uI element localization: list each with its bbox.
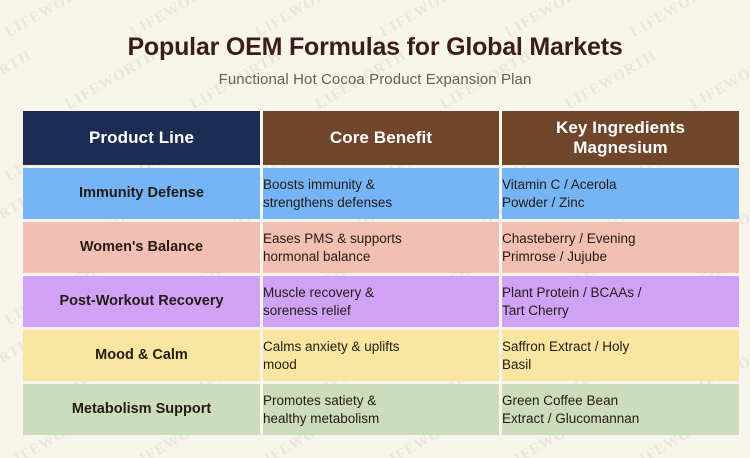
cell-product-line: Mood & Calm: [23, 330, 260, 381]
cell-product-line: Women's Balance: [23, 222, 260, 273]
column-header-key-ingredients-line2: Magnesium: [502, 138, 739, 158]
cell-core-benefit-line2: healthy metabolism: [263, 410, 499, 428]
table-row: Mood & Calm Calms anxiety & uplifts mood…: [23, 330, 739, 381]
page-title: Popular OEM Formulas for Global Markets: [0, 34, 750, 62]
cell-core-benefit-line2: mood: [263, 356, 499, 374]
cell-core-benefit: Eases PMS & supports hormonal balance: [263, 222, 499, 273]
cell-core-benefit: Calms anxiety & uplifts mood: [263, 330, 499, 381]
column-header-key-ingredients-line1: Key Ingredients: [502, 118, 739, 138]
table-header: Product Line Core Benefit Key Ingredient…: [23, 111, 739, 165]
table-row: Metabolism Support Promotes satiety & he…: [23, 384, 739, 435]
cell-key-ingredients: Plant Protein / BCAAs / Tart Cherry: [502, 276, 739, 327]
cell-key-ingredients: Saffron Extract / Holy Basil: [502, 330, 739, 381]
cell-key-ingredients-line2: Basil: [502, 356, 739, 374]
cell-key-ingredients-line2: Tart Cherry: [502, 302, 739, 320]
cell-key-ingredients-line1: Green Coffee Bean: [502, 392, 739, 410]
cell-key-ingredients-line1: Vitamin C / Acerola: [502, 176, 739, 194]
cell-product-line: Post-Workout Recovery: [23, 276, 260, 327]
cell-core-benefit: Promotes satiety & healthy metabolism: [263, 384, 499, 435]
cell-core-benefit-line2: hormonal balance: [263, 248, 499, 266]
cell-key-ingredients-line1: Plant Protein / BCAAs /: [502, 284, 739, 302]
infographic-page: Popular OEM Formulas for Global Markets …: [0, 0, 750, 458]
cell-key-ingredients-line1: Saffron Extract / Holy: [502, 338, 739, 356]
cell-core-benefit-line1: Promotes satiety &: [263, 392, 499, 410]
table-row: Post-Workout Recovery Muscle recovery & …: [23, 276, 739, 327]
column-header-core-benefit: Core Benefit: [263, 111, 499, 165]
cell-core-benefit-line1: Eases PMS & supports: [263, 230, 499, 248]
table-body: Immunity Defense Boosts immunity & stren…: [23, 168, 739, 435]
cell-core-benefit-line1: Muscle recovery &: [263, 284, 499, 302]
cell-key-ingredients: Green Coffee Bean Extract / Glucomannan: [502, 384, 739, 435]
cell-core-benefit-line1: Boosts immunity &: [263, 176, 499, 194]
cell-key-ingredients-line2: Primrose / Jujube: [502, 248, 739, 266]
table-header-row: Product Line Core Benefit Key Ingredient…: [23, 111, 739, 165]
cell-key-ingredients-line2: Powder / Zinc: [502, 194, 739, 212]
cell-key-ingredients: Chasteberry / Evening Primrose / Jujube: [502, 222, 739, 273]
cell-product-line: Immunity Defense: [23, 168, 260, 219]
cell-key-ingredients-line2: Extract / Glucomannan: [502, 410, 739, 428]
formula-table: Product Line Core Benefit Key Ingredient…: [20, 108, 742, 438]
column-header-key-ingredients: Key Ingredients Magnesium: [502, 111, 739, 165]
cell-core-benefit-line2: soreness relief: [263, 302, 499, 320]
cell-key-ingredients: Vitamin C / Acerola Powder / Zinc: [502, 168, 739, 219]
cell-core-benefit: Muscle recovery & soreness relief: [263, 276, 499, 327]
cell-core-benefit-line2: strengthens defenses: [263, 194, 499, 212]
cell-core-benefit: Boosts immunity & strengthens defenses: [263, 168, 499, 219]
cell-key-ingredients-line1: Chasteberry / Evening: [502, 230, 739, 248]
header-block: Popular OEM Formulas for Global Markets …: [0, 0, 750, 88]
cell-core-benefit-line1: Calms anxiety & uplifts: [263, 338, 499, 356]
cell-product-line: Metabolism Support: [23, 384, 260, 435]
column-header-product-line: Product Line: [23, 111, 260, 165]
table-row: Immunity Defense Boosts immunity & stren…: [23, 168, 739, 219]
table-row: Women's Balance Eases PMS & supports hor…: [23, 222, 739, 273]
page-subtitle: Functional Hot Cocoa Product Expansion P…: [0, 62, 750, 88]
